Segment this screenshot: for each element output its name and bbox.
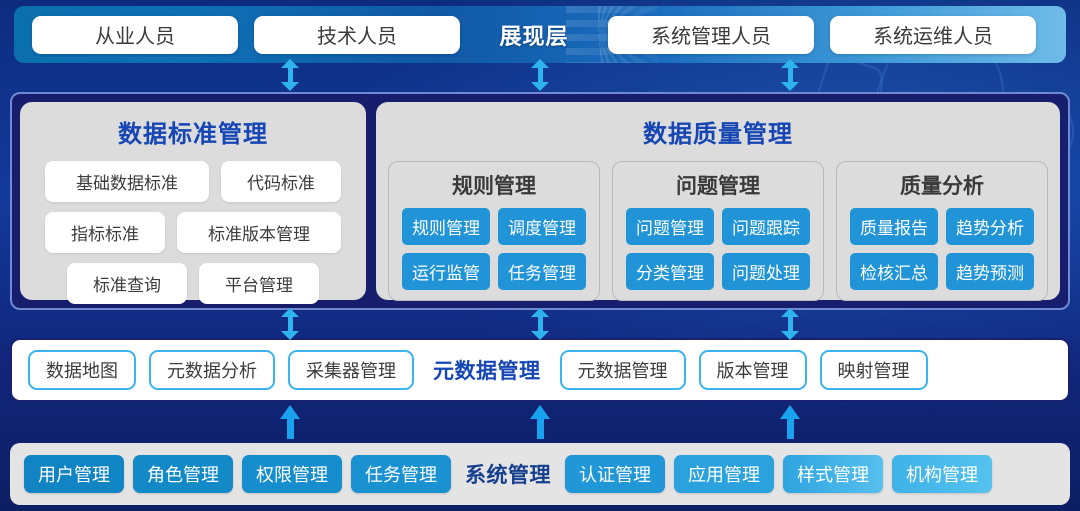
- up-arrow-icon: [531, 405, 549, 439]
- double-arrow-icon: [531, 307, 549, 341]
- sys-chip-style-management[interactable]: 样式管理: [783, 455, 883, 493]
- analysis-item-trend-forecast[interactable]: 趋势预测: [946, 253, 1034, 290]
- sys-chip-application-management[interactable]: 应用管理: [674, 455, 774, 493]
- analysis-item-quality-report[interactable]: 质量报告: [850, 208, 938, 245]
- std-item-version-management[interactable]: 标准版本管理: [177, 212, 341, 253]
- rule-item-schedule-management[interactable]: 调度管理: [498, 208, 586, 245]
- analysis-item-trend-analysis[interactable]: 趋势分析: [946, 208, 1034, 245]
- issue-item-issue-tracking[interactable]: 问题跟踪: [722, 208, 810, 245]
- std-item-basic-data-standard[interactable]: 基础数据标准: [45, 161, 209, 202]
- system-layer-title: 系统管理: [460, 459, 556, 489]
- subpanel-rule-items: 规则管理 调度管理 运行监管 任务管理: [399, 208, 589, 290]
- meta-chip-metadata-analysis[interactable]: 元数据分析: [149, 350, 275, 390]
- presentation-layer-band: 从业人员 技术人员 展现层 系统管理人员 系统运维人员: [14, 6, 1066, 63]
- subpanel-analysis-items: 质量报告 趋势分析 检核汇总 趋势预测: [847, 208, 1037, 290]
- sys-chip-task-management[interactable]: 任务管理: [351, 455, 451, 493]
- sys-chip-permission-management[interactable]: 权限管理: [242, 455, 342, 493]
- top-chip-system-admin[interactable]: 系统管理人员: [608, 16, 814, 54]
- subpanel-issue-management: 问题管理 问题管理 问题跟踪 分类管理 问题处理: [612, 161, 824, 301]
- up-arrow-icon: [781, 405, 799, 439]
- connector-row-bottom: [0, 405, 1080, 441]
- subpanel-issue-items: 问题管理 问题跟踪 分类管理 问题处理: [623, 208, 813, 290]
- meta-chip-version-management[interactable]: 版本管理: [699, 350, 807, 390]
- data-quality-title: 数据质量管理: [388, 114, 1048, 149]
- up-arrow-icon: [281, 405, 299, 439]
- top-chip-system-ops[interactable]: 系统运维人员: [830, 16, 1036, 54]
- top-chip-practitioner[interactable]: 从业人员: [32, 16, 238, 54]
- connector-row-top: [0, 58, 1080, 96]
- sys-chip-user-management[interactable]: 用户管理: [24, 455, 124, 493]
- std-item-platform-management[interactable]: 平台管理: [199, 263, 319, 304]
- issue-item-issue-handling[interactable]: 问题处理: [722, 253, 810, 290]
- double-arrow-icon: [781, 58, 799, 92]
- meta-chip-mapping-management[interactable]: 映射管理: [820, 350, 928, 390]
- meta-chip-collector-management[interactable]: 采集器管理: [288, 350, 414, 390]
- subpanel-rule-title: 规则管理: [399, 170, 589, 200]
- governance-layer-frame: 数据标准管理 基础数据标准 代码标准 指标标准 标准版本管理 标准查询 平台管理…: [10, 92, 1070, 310]
- architecture-diagram: 从业人员 技术人员 展现层 系统管理人员 系统运维人员 数据标准管理 基础数据标…: [0, 0, 1080, 511]
- meta-chip-metadata-management[interactable]: 元数据管理: [560, 350, 686, 390]
- top-chip-technician[interactable]: 技术人员: [254, 16, 460, 54]
- std-item-code-standard[interactable]: 代码标准: [221, 161, 341, 202]
- double-arrow-icon: [281, 58, 299, 92]
- issue-item-classification[interactable]: 分类管理: [626, 253, 714, 290]
- metadata-layer-band: 数据地图 元数据分析 采集器管理 元数据管理 元数据管理 版本管理 映射管理: [10, 338, 1070, 402]
- std-item-standard-query[interactable]: 标准查询: [67, 263, 187, 304]
- rule-item-task-management[interactable]: 任务管理: [498, 253, 586, 290]
- data-standard-panel: 数据标准管理 基础数据标准 代码标准 指标标准 标准版本管理 标准查询 平台管理: [20, 102, 366, 300]
- data-standard-title: 数据标准管理: [32, 114, 354, 149]
- subpanel-rule-management: 规则管理 规则管理 调度管理 运行监管 任务管理: [388, 161, 600, 301]
- presentation-layer-row: 从业人员 技术人员 展现层 系统管理人员 系统运维人员: [14, 6, 1066, 63]
- sys-chip-org-management[interactable]: 机构管理: [892, 455, 992, 493]
- std-item-indicator-standard[interactable]: 指标标准: [45, 212, 165, 253]
- rule-item-rule-management[interactable]: 规则管理: [402, 208, 490, 245]
- data-quality-subpanels: 规则管理 规则管理 调度管理 运行监管 任务管理 问题管理 问题管理 问题跟踪 …: [388, 161, 1048, 301]
- data-quality-panel: 数据质量管理 规则管理 规则管理 调度管理 运行监管 任务管理 问题管理 问题管…: [376, 102, 1060, 300]
- subpanel-quality-analysis: 质量分析 质量报告 趋势分析 检核汇总 趋势预测: [836, 161, 1048, 301]
- sys-chip-auth-management[interactable]: 认证管理: [565, 455, 665, 493]
- analysis-item-audit-summary[interactable]: 检核汇总: [850, 253, 938, 290]
- rule-item-runtime-monitoring[interactable]: 运行监管: [402, 253, 490, 290]
- metadata-layer-title: 元数据管理: [427, 355, 547, 385]
- subpanel-issue-title: 问题管理: [623, 170, 813, 200]
- subpanel-analysis-title: 质量分析: [847, 170, 1037, 200]
- meta-chip-data-map[interactable]: 数据地图: [28, 350, 136, 390]
- system-layer-band: 用户管理 角色管理 权限管理 任务管理 系统管理 认证管理 应用管理 样式管理 …: [10, 443, 1070, 505]
- double-arrow-icon: [781, 307, 799, 341]
- presentation-layer-title: 展现层: [476, 19, 592, 51]
- double-arrow-icon: [531, 58, 549, 92]
- connector-row-middle: [0, 307, 1080, 345]
- double-arrow-icon: [281, 307, 299, 341]
- sys-chip-role-management[interactable]: 角色管理: [133, 455, 233, 493]
- data-standard-items: 基础数据标准 代码标准 指标标准 标准版本管理 标准查询 平台管理: [32, 161, 354, 304]
- issue-item-issue-management[interactable]: 问题管理: [626, 208, 714, 245]
